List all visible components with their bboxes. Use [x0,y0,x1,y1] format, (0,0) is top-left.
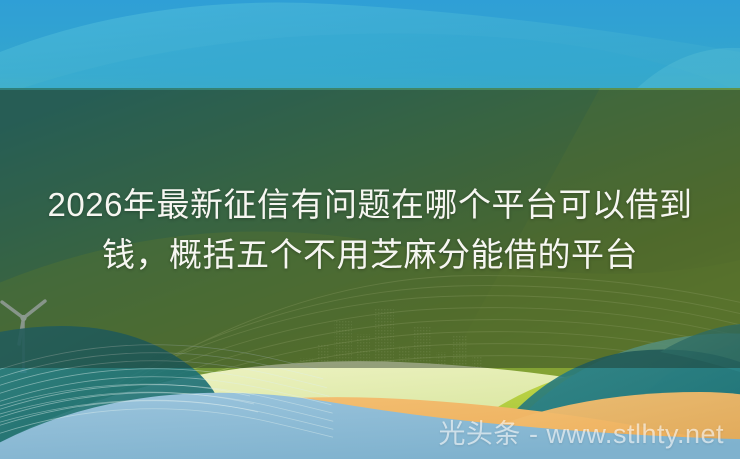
poster-canvas: 2026年最新征信有问题在哪个平台可以借到钱，概括五个不用芝麻分能借的平台 光头… [0,0,740,459]
site-watermark: 光头条 - www.stlhty.net [438,417,724,451]
page-title: 2026年最新征信有问题在哪个平台可以借到钱，概括五个不用芝麻分能借的平台 [40,180,700,280]
